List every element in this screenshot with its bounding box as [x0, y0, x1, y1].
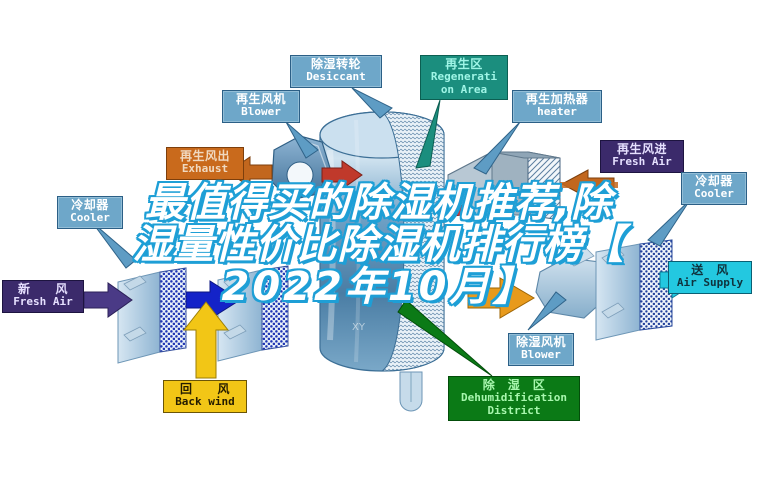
- label-regeneration-blower-en: Blower: [228, 106, 294, 118]
- label-fresh-air-in-en: Fresh Air: [8, 296, 78, 308]
- supply-coil-assembly: [596, 240, 672, 340]
- label-air-supply: 送 风 Air Supply: [668, 261, 752, 294]
- blower-arrow: [468, 278, 534, 318]
- label-regeneration-heater: 再生加热器 heater: [512, 90, 602, 123]
- label-air-supply-en: Air Supply: [674, 277, 746, 289]
- label-dehumidification-district: 除 湿 区 Dehumidification District: [448, 376, 580, 421]
- label-back-wind-cn: 回 风: [169, 383, 241, 396]
- label-exhaust-en: Exhaust: [172, 163, 238, 175]
- label-regeneration-area-en-2: on Area: [426, 84, 502, 96]
- regen-fresh-in-arrow: [560, 170, 618, 198]
- label-regeneration-fresh-air-in-cn: 再生风进: [606, 143, 678, 156]
- label-exhaust-cn: 再生风出: [172, 150, 238, 163]
- label-desiccant-rotor-en: Desiccant: [296, 71, 376, 83]
- drain-pan: [400, 372, 422, 411]
- label-regeneration-area: 再生区 Regenerati on Area: [420, 55, 508, 100]
- label-fresh-air-in: 新 风 Fresh Air: [2, 280, 84, 313]
- label-cooler-left: 冷却器 Cooler: [57, 196, 123, 229]
- label-desiccant-rotor: 除湿转轮 Desiccant: [290, 55, 382, 88]
- label-cooler-left-cn: 冷却器: [63, 199, 117, 212]
- label-air-supply-cn: 送 风: [674, 264, 746, 277]
- cooler-coil-left-assembly-2: [218, 266, 288, 361]
- label-cooler-right-cn: 冷却器: [687, 175, 741, 188]
- label-exhaust: 再生风出 Exhaust: [166, 147, 244, 180]
- label-regeneration-area-cn: 再生区: [426, 58, 502, 71]
- cooler-coil-left-assembly: [118, 268, 186, 363]
- label-dehumidification-district-cn: 除 湿 区: [454, 379, 574, 392]
- label-dehumidifying-blower: 除湿风机 Blower: [508, 333, 574, 366]
- label-regeneration-heater-en: heater: [518, 106, 596, 118]
- label-regeneration-fresh-air-in-en: Fresh Air: [606, 156, 678, 168]
- label-desiccant-rotor-cn: 除湿转轮: [296, 58, 376, 71]
- label-dehumidifying-blower-cn: 除湿风机: [514, 336, 568, 349]
- label-back-wind-en: Back wind: [169, 396, 241, 408]
- svg-text:XY: XY: [352, 322, 366, 333]
- label-dehumidifying-blower-en: Blower: [514, 349, 568, 361]
- label-back-wind: 回 风 Back wind: [163, 380, 247, 413]
- label-cooler-right: 冷却器 Cooler: [681, 172, 747, 205]
- label-cooler-right-en: Cooler: [687, 188, 741, 200]
- label-dehumidification-district-en-1: Dehumidification: [454, 392, 574, 404]
- diagram-canvas: XY: [0, 0, 757, 488]
- label-cooler-left-en: Cooler: [63, 212, 117, 224]
- label-regeneration-heater-cn: 再生加热器: [518, 93, 596, 106]
- label-regeneration-blower: 再生风机 Blower: [222, 90, 300, 123]
- label-regeneration-area-en-1: Regenerati: [426, 71, 502, 83]
- label-regeneration-blower-cn: 再生风机: [228, 93, 294, 106]
- label-dehumidification-district-en-2: District: [454, 405, 574, 417]
- label-regeneration-fresh-air-in: 再生风进 Fresh Air: [600, 140, 684, 173]
- label-fresh-air-in-cn: 新 风: [8, 283, 78, 296]
